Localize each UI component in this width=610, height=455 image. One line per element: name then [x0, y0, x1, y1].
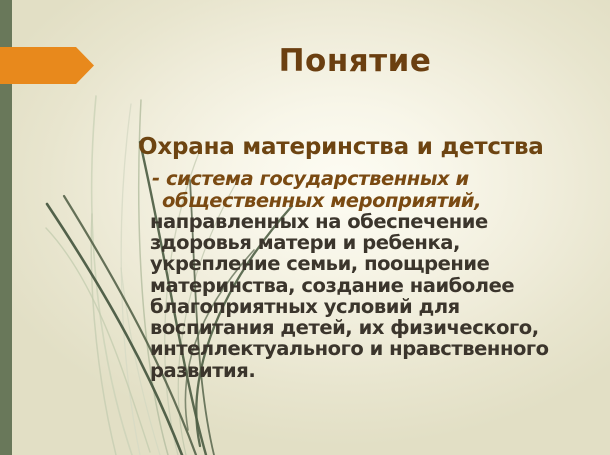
- presentation-slide: Понятие Охрана материнства и детства - с…: [0, 0, 610, 455]
- body-line: интеллектуального и нравственного: [150, 338, 568, 359]
- body-line: материнства, создание наиболее: [150, 275, 568, 296]
- body-definition-paragraph: - система государственных и общественных…: [138, 168, 568, 381]
- chevron-shape: [0, 47, 94, 84]
- body-line: благоприятных условий для: [150, 296, 568, 317]
- body-heading: Охрана материнства и детства: [138, 134, 568, 160]
- grass-blade-pale-3: [91, 214, 116, 455]
- slide-body: Охрана материнства и детства - система г…: [138, 134, 568, 381]
- page-title: Понятие: [120, 44, 590, 78]
- body-line: укрепление семьи, поощрение: [150, 253, 568, 274]
- body-line: здоровья матери и ребенка,: [150, 232, 568, 253]
- body-line: направленных на обеспечение: [150, 211, 568, 232]
- grass-blade-pale-1: [92, 96, 132, 455]
- grass-blade-pale-4: [46, 228, 150, 452]
- body-line: развития.: [150, 360, 568, 381]
- body-line: воспитания детей, их физического,: [150, 317, 568, 338]
- body-line: общественных мероприятий,: [162, 190, 568, 211]
- orange-chevron-banner: [0, 47, 94, 84]
- body-line: - система государственных и: [152, 168, 568, 189]
